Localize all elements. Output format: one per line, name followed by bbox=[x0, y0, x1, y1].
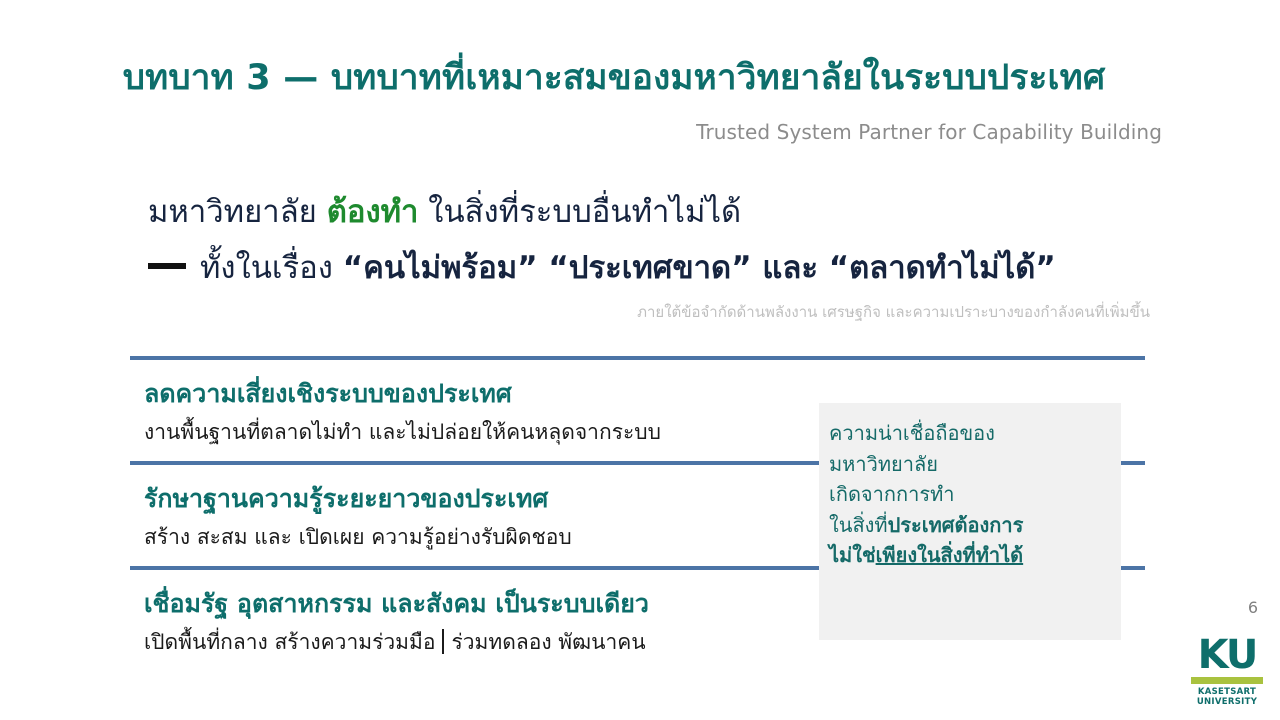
lead-line1-before: มหาวิทยาลัย bbox=[148, 194, 327, 230]
callout-line-5-prefix: ไม่ใช่ bbox=[829, 543, 876, 567]
divider-rule-top bbox=[130, 356, 1145, 360]
pillar-3-detail-after: ร่วมทดลอง พัฒนาคน bbox=[451, 630, 645, 654]
logo-mark-text: KU bbox=[1191, 636, 1263, 674]
lead-line1-accent: ต้องทำ bbox=[327, 194, 419, 230]
pillar-block-2: รักษาฐานความรู้ระยะยาวของประเทศ สร้าง สะ… bbox=[144, 483, 844, 551]
pillar-3-detail-before: เปิดพื้นที่กลาง สร้างความร่วมมือ bbox=[144, 630, 435, 654]
callout-line-2: มหาวิทยาลัย bbox=[829, 449, 1121, 480]
lead-line1-after: ในสิ่งที่ระบบอื่นทำไม่ได้ bbox=[418, 194, 741, 230]
callout-line-4-normal: ในสิ่งที่ bbox=[829, 513, 888, 537]
lead-line2-text: ทั้งในเรื่อง “คนไม่พร้อม” “ประเทศขาด” แล… bbox=[200, 242, 1056, 292]
pillar-1-detail: งานพื้นฐานที่ตลาดไม่ทำ และไม่ปล่อยให้คนห… bbox=[144, 419, 844, 445]
pillar-block-3: เชื่อมรัฐ อุตสาหกรรม และสังคม เป็นระบบเด… bbox=[144, 588, 844, 656]
logo-name-line-1: KASETSART bbox=[1191, 687, 1263, 698]
pillar-block-1: ลดความเสี่ยงเชิงระบบของประเทศ งานพื้นฐาน… bbox=[144, 378, 844, 446]
callout-line-4: ในสิ่งที่ประเทศต้องการ bbox=[829, 510, 1121, 541]
lead-statement-line-2: ทั้งในเรื่อง “คนไม่พร้อม” “ประเทศขาด” แล… bbox=[148, 242, 1056, 292]
slide-canvas: บทบาท 3 — บทบาทที่เหมาะสมของมหาวิทยาลัยใ… bbox=[0, 0, 1280, 720]
em-dash-marker bbox=[148, 263, 186, 269]
pillar-2-detail: สร้าง สะสม และ เปิดเผย ความรู้อย่างรับผิ… bbox=[144, 524, 844, 550]
lead-line2-prefix: ทั้งในเรื่อง bbox=[200, 250, 343, 286]
pillar-2-heading: รักษาฐานความรู้ระยะยาวของประเทศ bbox=[144, 483, 844, 514]
lead-statement-line-1: มหาวิทยาลัย ต้องทำ ในสิ่งที่ระบบอื่นทำไม… bbox=[148, 186, 741, 236]
slide-title: บทบาท 3 — บทบาทที่เหมาะสมของมหาวิทยาลัยใ… bbox=[64, 58, 1164, 99]
logo-green-bar bbox=[1191, 677, 1263, 684]
kasetsart-university-logo: KU KASETSART UNIVERSITY bbox=[1191, 636, 1263, 708]
logo-name-line-2: UNIVERSITY bbox=[1191, 697, 1263, 708]
pillar-1-heading: ลดความเสี่ยงเชิงระบบของประเทศ bbox=[144, 378, 844, 409]
slide-subtitle: Trusted System Partner for Capability Bu… bbox=[696, 120, 1162, 144]
callout-box: ความน่าเชื่อถือของ มหาวิทยาลัย เกิดจากกา… bbox=[819, 403, 1121, 640]
callout-line-3: เกิดจากการทำ bbox=[829, 479, 1121, 510]
callout-line-1: ความน่าเชื่อถือของ bbox=[829, 418, 1121, 449]
callout-line-5: ไม่ใช่เพียงในสิ่งที่ทำได้ bbox=[829, 540, 1121, 571]
page-number: 6 bbox=[1248, 598, 1258, 617]
callout-line-5-underlined: เพียงในสิ่งที่ทำได้ bbox=[876, 543, 1024, 567]
lead-line2-strong: “คนไม่พร้อม” “ประเทศขาด” และ “ตลาดทำไม่ไ… bbox=[343, 250, 1056, 286]
pillar-3-detail: เปิดพื้นที่กลาง สร้างความร่วมมือร่วมทดลอ… bbox=[144, 629, 844, 655]
vertical-bar-separator bbox=[442, 629, 444, 654]
callout-line-4-bold: ประเทศต้องการ bbox=[888, 513, 1024, 537]
pillar-3-heading: เชื่อมรัฐ อุตสาหกรรม และสังคม เป็นระบบเด… bbox=[144, 588, 844, 619]
lead-footnote: ภายใต้ข้อจำกัดด้านพลังงาน เศรษฐกิจ และคว… bbox=[637, 300, 1150, 324]
